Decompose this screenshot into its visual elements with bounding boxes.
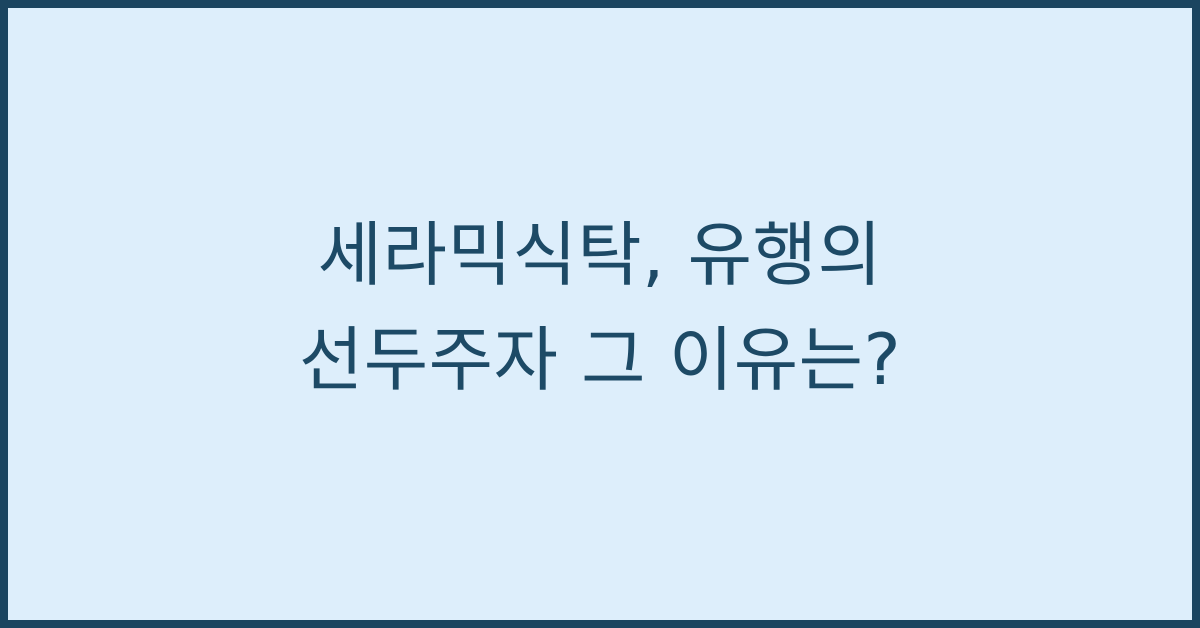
title-line-2: 선두주자 그 이유는?	[48, 308, 1152, 413]
title-line-1: 세라믹식탁, 유행의	[48, 203, 1152, 308]
thumbnail-canvas: 세라믹식탁, 유행의 선두주자 그 이유는?	[8, 8, 1192, 620]
title-block: 세라믹식탁, 유행의 선두주자 그 이유는?	[8, 203, 1192, 413]
thumbnail-card: 세라믹식탁, 유행의 선두주자 그 이유는?	[0, 0, 1200, 628]
